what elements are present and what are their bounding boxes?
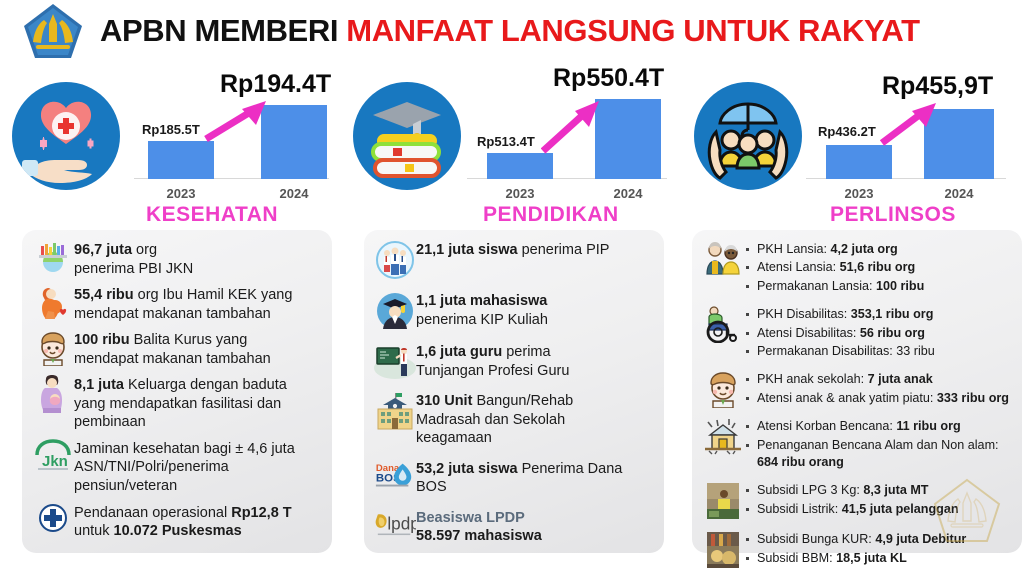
summary-charts-row: 2023 2024 Rp185.5T Rp194.4T KESEHATAN <box>0 62 1024 222</box>
value-line2: penerima PBI JKN <box>74 261 193 277</box>
bullet-label: Subsidi LPG 3 Kg: <box>757 483 863 497</box>
value-rest: penerima PIP <box>518 242 610 258</box>
value-bold: 310 Unit <box>416 393 472 409</box>
students-icon <box>374 240 416 280</box>
value-line2-pre: untuk <box>74 523 114 539</box>
graduate-icon <box>374 291 416 331</box>
value-line2: yang mendapatkan fasilitasi dan <box>74 396 281 412</box>
market-photo-icon <box>702 530 744 570</box>
list-item: PKH anak sekolah: 7 juta anak Atensi ana… <box>702 370 1014 408</box>
bar-value-2023: Rp185.5T <box>142 122 200 137</box>
chart-panel-perlinsos: 2023 2024 Rp436.2T Rp455,9T PERLINSOS <box>682 62 1023 222</box>
value-rest: org <box>132 242 157 258</box>
bullet-label: Penanganan Bencana Alam dan Non alam: <box>757 438 999 452</box>
value-bold: 55,4 ribu <box>74 287 134 303</box>
list-item: 21,1 juta siswa penerima PIP <box>374 240 656 280</box>
value-bold: 21,1 juta siswa <box>416 242 518 258</box>
bullet-item: Atensi Lansia: 51,6 ribu org <box>744 259 1014 276</box>
list-item-text: 310 Unit Bangun/Rehab Madrasah dan Sekol… <box>416 391 656 448</box>
bar-label-2023: 2023 <box>826 186 892 201</box>
bar-2023 <box>487 153 553 179</box>
elderly-couple-icon <box>702 240 744 276</box>
bullet-value: 353,1 ribu org <box>851 307 934 321</box>
jkn-logo-icon: Jkn <box>32 439 74 473</box>
growth-arrow-icon <box>880 101 942 147</box>
list-item-text: 55,4 ribu org Ibu Hamil KEK yang mendapa… <box>74 285 324 323</box>
bullet-item: Permakanan Disabilitas: 33 ribu <box>744 343 1014 360</box>
list-item: 310 Unit Bangun/Rehab Madrasah dan Sekol… <box>374 391 656 448</box>
list-item-text: PKH Disabilitas: 353,1 ribu org Atensi D… <box>744 305 1014 361</box>
value-line2: mendapat makanan tambahan <box>74 306 271 322</box>
kemenkeu-watermark-icon <box>932 477 1002 543</box>
list-item: PKH Lansia: 4,2 juta org Atensi Lansia: … <box>702 240 1014 296</box>
bar-value-2023: Rp513.4T <box>477 134 535 149</box>
value-line2: Tunjangan Profesi Guru <box>416 363 569 379</box>
child-face-icon <box>32 330 74 366</box>
bullet-item: PKH Disabilitas: 353,1 ribu org <box>744 306 1014 323</box>
wheelchair-icon <box>702 305 744 343</box>
bullet-label: Permakanan Disabilitas: 33 ribu <box>757 344 935 358</box>
bullet-list: PKH Lansia: 4,2 juta org Atensi Lansia: … <box>744 241 1014 295</box>
value-line2: ASN/TNI/Polri/penerima <box>74 459 229 475</box>
value-rest: Jaminan kesehatan bagi ± 4,6 juta <box>74 441 295 457</box>
list-item-text: 100 ribu Balita Kurus yang mendapat maka… <box>74 330 324 368</box>
school-building-icon <box>374 391 416 431</box>
bullet-label: PKH Disabilitas: <box>757 307 851 321</box>
value-bold: 1,6 juta guru <box>416 344 502 360</box>
value-bold: 1,1 juta mahasiswa <box>416 293 547 309</box>
value-line3: keagamaan <box>416 430 492 446</box>
child-face-icon <box>702 370 744 408</box>
damaged-house-icon <box>702 417 744 455</box>
bullet-value: 333 ribu org <box>937 391 1009 405</box>
bullet-list: Atensi Korban Bencana: 11 ribu org Penan… <box>744 418 1014 471</box>
bullet-label: Atensi Lansia: <box>757 260 840 274</box>
blue-plus-icon <box>32 503 74 533</box>
bullet-label: Subsidi Bunga KUR: <box>757 532 875 546</box>
value-bold: 100 ribu <box>74 332 130 348</box>
lpdp-logo-icon: lpdp <box>374 508 416 540</box>
detail-cards-row: 96,7 juta org penerima PBI JKN 55,4 ribu… <box>0 222 1024 553</box>
bar-value-2024: Rp455,9T <box>882 72 993 101</box>
bar-2023 <box>826 145 892 179</box>
kitchen-photo-icon <box>702 481 744 521</box>
bullet-item: PKH Lansia: 4,2 juta org <box>744 241 1014 258</box>
list-item-text: Jaminan kesehatan bagi ± 4,6 juta ASN/TN… <box>74 439 324 496</box>
bullet-value: 100 ribu <box>876 279 924 293</box>
growth-arrow-icon <box>541 99 607 155</box>
bullet-item: Atensi anak & anak yatim piatu: 333 ribu… <box>744 390 1014 407</box>
svg-text:lpdp: lpdp <box>387 514 416 534</box>
list-item-text: Beasiswa LPDP 58.597 mahasiswa <box>416 508 656 546</box>
svg-text:Jkn: Jkn <box>42 453 68 470</box>
people-globe-icon <box>32 240 74 274</box>
list-item: PKH Disabilitas: 353,1 ribu org Atensi D… <box>702 305 1014 361</box>
list-item: 1,6 juta guru perima Tunjangan Profesi G… <box>374 342 656 380</box>
bullet-item: Permakanan Lansia: 100 ribu <box>744 278 1014 295</box>
list-item: 55,4 ribu org Ibu Hamil KEK yang mendapa… <box>32 285 324 323</box>
bullet-list: PKH Disabilitas: 353,1 ribu org Atensi D… <box>744 306 1014 360</box>
pregnant-woman-icon <box>32 285 74 321</box>
bullet-label: Atensi Korban Bencana: <box>757 419 896 433</box>
bar-label-2024: 2024 <box>926 186 992 201</box>
list-item-text: 21,1 juta siswa penerima PIP <box>416 240 656 260</box>
list-item-text: 96,7 juta org penerima PBI JKN <box>74 240 324 278</box>
growth-arrow-icon <box>204 99 274 143</box>
value-line2: Madrasah dan Sekolah <box>416 412 565 428</box>
list-item-text: 1,1 juta mahasiswa penerima KIP Kuliah <box>416 291 656 329</box>
value-bold: 96,7 juta <box>74 242 132 258</box>
bullet-label: PKH Lansia: <box>757 242 831 256</box>
bullet-value: 51,6 ribu org <box>840 260 916 274</box>
value-line2: penerima KIP Kuliah <box>416 312 548 328</box>
title-part-black: APBN MEMBERI <box>100 13 338 48</box>
list-item-text: PKH anak sekolah: 7 juta anak Atensi ana… <box>744 370 1014 408</box>
list-item-text: Atensi Korban Bencana: 11 ribu org Penan… <box>744 417 1014 472</box>
page-title: APBN MEMBERI MANFAAT LANGSUNG UNTUK RAKY… <box>100 13 920 49</box>
list-item: Jkn Jaminan kesehatan bagi ± 4,6 juta AS… <box>32 439 324 496</box>
list-item: Pendanaan operasional Rp12,8 T untuk 10.… <box>32 503 324 541</box>
chart-panel-pendidikan: 2023 2024 Rp513.4T Rp550.4T PENDIDIKAN <box>341 62 682 222</box>
list-item: Dana BOS 53,2 juta siswa Penerima Dana B… <box>374 459 656 497</box>
list-item-text: 8,1 juta Keluarga dengan baduta yang men… <box>74 375 324 432</box>
bullet-item: Penanganan Bencana Alam dan Non alam: 68… <box>744 437 1014 472</box>
value-bold: 53,2 juta siswa <box>416 461 518 477</box>
value-rest: Bangun/Rehab <box>472 393 573 409</box>
value-rest: Balita Kurus yang <box>130 332 248 348</box>
bar-chart-pendidikan: 2023 2024 Rp513.4T Rp550.4T PENDIDIKAN <box>465 62 682 217</box>
value-rest: Penerima Dana <box>518 461 623 477</box>
section-title-kesehatan: KESEHATAN <box>146 203 278 227</box>
value-rest: perima <box>502 344 550 360</box>
bar-value-2023: Rp436.2T <box>818 124 876 139</box>
list-item-text: 53,2 juta siswa Penerima Dana BOS <box>416 459 656 497</box>
bullet-value: 56 ribu org <box>860 326 925 340</box>
page-header: APBN MEMBERI MANFAAT LANGSUNG UNTUK RAKY… <box>0 0 1024 62</box>
heart-hand-icon <box>12 82 120 190</box>
bar-chart-perlinsos: 2023 2024 Rp436.2T Rp455,9T PERLINSOS <box>806 62 1023 217</box>
bullet-label: Permakanan Lansia: <box>757 279 876 293</box>
kemenkeu-logo-icon <box>22 2 84 60</box>
list-item: lpdp Beasiswa LPDP 58.597 mahasiswa <box>374 508 656 546</box>
bar-label-2023: 2023 <box>487 186 553 201</box>
bar-2023 <box>148 141 214 179</box>
bar-value-2024: Rp194.4T <box>220 70 331 99</box>
value-line3: pensiun/veteran <box>74 478 177 494</box>
umbrella-family-hands-icon <box>694 82 802 190</box>
books-graduation-icon <box>353 82 461 190</box>
bullet-value: 11 ribu org <box>896 419 960 433</box>
bullet-item: Subsidi BBM: 18,5 juta KL <box>744 550 1014 567</box>
list-item-text: 1,6 juta guru perima Tunjangan Profesi G… <box>416 342 656 380</box>
list-item: 100 ribu Balita Kurus yang mendapat maka… <box>32 330 324 368</box>
teacher-blackboard-icon <box>374 342 416 380</box>
value-rest: Pendanaan operasional <box>74 505 231 521</box>
value-line2: mendapat makanan tambahan <box>74 351 271 367</box>
bar-label-2023: 2023 <box>148 186 214 201</box>
value-rest: Keluarga dengan baduta <box>124 377 287 393</box>
bullet-value: 8,3 juta MT <box>863 483 928 497</box>
list-item: 1,1 juta mahasiswa penerima KIP Kuliah <box>374 291 656 331</box>
bullet-list: PKH anak sekolah: 7 juta anak Atensi ana… <box>744 371 1014 407</box>
value-line2: BOS <box>416 479 447 495</box>
dana-bos-logo-icon: Dana BOS <box>374 459 416 493</box>
list-item-text: PKH Lansia: 4,2 juta org Atensi Lansia: … <box>744 240 1014 296</box>
value-rest: org Ibu Hamil KEK yang <box>134 287 293 303</box>
bullet-item: Atensi Korban Bencana: 11 ribu org <box>744 418 1014 435</box>
section-title-perlinsos: PERLINSOS <box>830 203 956 227</box>
value-line2-bold: 10.072 Puskesmas <box>114 523 242 539</box>
bar-chart-kesehatan: 2023 2024 Rp185.5T Rp194.4T KESEHATAN <box>124 62 341 217</box>
value-bold: 8,1 juta <box>74 377 124 393</box>
bar-label-2024: 2024 <box>595 186 661 201</box>
list-item: 8,1 juta Keluarga dengan baduta yang men… <box>32 375 324 432</box>
bar-label-2024: 2024 <box>261 186 327 201</box>
value-boldtail: Rp12,8 T <box>231 505 291 521</box>
value-title-blue: Beasiswa LPDP <box>416 510 525 526</box>
card-pendidikan: 21,1 juta siswa penerima PIP 1,1 juta ma… <box>364 230 664 553</box>
bullet-item: PKH anak sekolah: 7 juta anak <box>744 371 1014 388</box>
bullet-value: 7 juta anak <box>868 372 933 386</box>
bullet-value: 684 ribu orang <box>757 455 844 469</box>
bullet-label: Atensi anak & anak yatim piatu: <box>757 391 937 405</box>
value-bold: 58.597 mahasiswa <box>416 528 542 544</box>
card-kesehatan: 96,7 juta org penerima PBI JKN 55,4 ribu… <box>22 230 332 553</box>
mother-baby-icon <box>32 375 74 413</box>
list-item-text: Pendanaan operasional Rp12,8 T untuk 10.… <box>74 503 324 541</box>
bullet-value: 4,2 juta org <box>831 242 898 256</box>
section-title-pendidikan: PENDIDIKAN <box>483 203 619 227</box>
list-item: Atensi Korban Bencana: 11 ribu org Penan… <box>702 417 1014 472</box>
bullet-label: Subsidi Listrik: <box>757 502 842 516</box>
title-part-red: MANFAAT LANGSUNG UNTUK RAKYAT <box>346 13 919 48</box>
value-line3: pembinaan <box>74 414 146 430</box>
bullet-item: Atensi Disabilitas: 56 ribu org <box>744 325 1014 342</box>
list-item: 96,7 juta org penerima PBI JKN <box>32 240 324 278</box>
bar-value-2024: Rp550.4T <box>553 64 664 93</box>
chart-panel-kesehatan: 2023 2024 Rp185.5T Rp194.4T KESEHATAN <box>0 62 341 222</box>
bullet-label: PKH anak sekolah: <box>757 372 868 386</box>
bullet-label: Atensi Disabilitas: <box>757 326 860 340</box>
